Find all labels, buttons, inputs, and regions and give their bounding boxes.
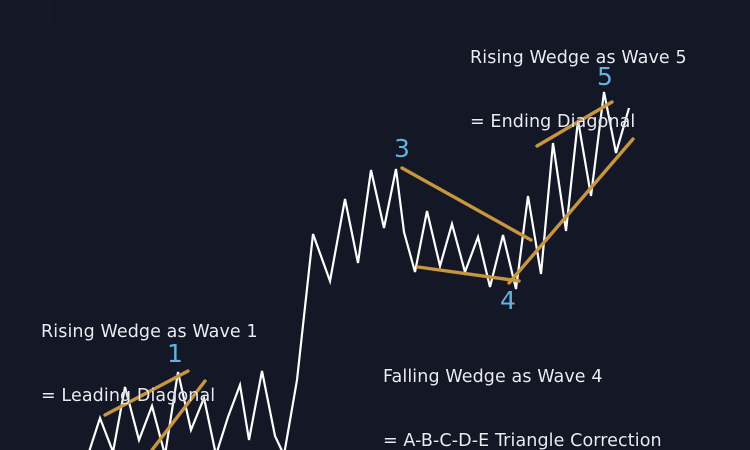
annotation-line-2: = Ending Diagonal [470,112,687,133]
wave-label-4: 4 [500,288,516,313]
annotation-rising-wedge-wave-5: Rising Wedge as Wave 5 = Ending Diagonal [470,5,687,176]
wave-label-3: 3 [394,136,410,161]
annotation-line-1: Falling Wedge as Wave 4 [383,367,662,388]
annotation-falling-wedge-wave-4: Falling Wedge as Wave 4 = A-B-C-D-E Tria… [383,324,662,450]
annotation-line-2: = Leading Diagonal [41,386,258,407]
annotation-line-1: Rising Wedge as Wave 5 [470,48,687,69]
annotation-line-1: Rising Wedge as Wave 1 [41,322,258,343]
annotation-line-2: = A-B-C-D-E Triangle Correction [383,431,662,450]
wave-label-1: 1 [167,341,183,366]
annotation-rising-wedge-wave-1: Rising Wedge as Wave 1 = Leading Diagona… [41,279,258,450]
wave-label-5: 5 [597,64,613,89]
diagram-canvas: Rising Wedge as Wave 5 = Ending Diagonal… [0,0,750,450]
